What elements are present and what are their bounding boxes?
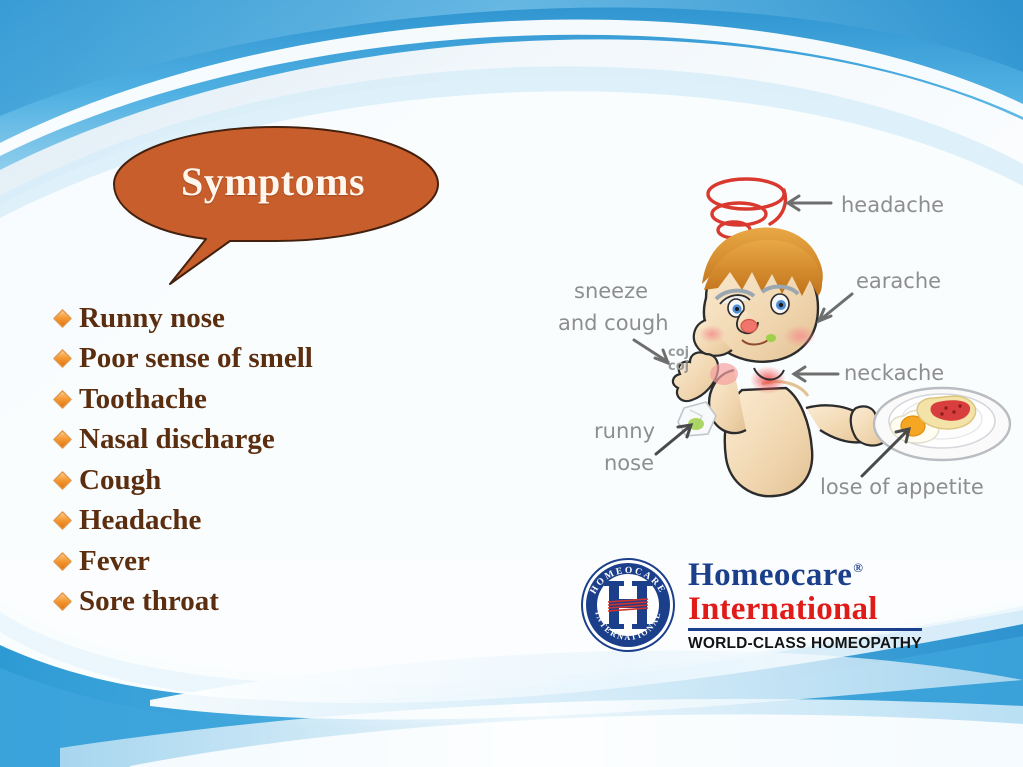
diamond-bullet-icon [53, 512, 71, 530]
sick-child-diagram-svg: headache [556, 158, 1023, 518]
arrow-neckache [794, 367, 838, 381]
registered-mark: ® [853, 561, 863, 574]
callout-runny-line1: runny [594, 419, 655, 443]
list-item: Headache [56, 501, 476, 542]
sick-child-illustration: headache [556, 158, 1023, 518]
symptom-label: Toothache [79, 385, 207, 414]
logo-tagline: WORLD-CLASS HOMEOPATHY [688, 636, 922, 652]
diamond-bullet-icon [53, 309, 71, 327]
diamond-bullet-icon [53, 471, 71, 489]
diamond-bullet-icon [53, 390, 71, 408]
homeocare-logo: HOMEOCARE INTERNATIONAL Homeocare ® Inte… [578, 553, 1008, 657]
mucus-drip [766, 334, 776, 342]
list-item: Sore throat [56, 582, 476, 623]
cough-sound-line1: coj [668, 345, 689, 360]
diamond-bullet-icon [53, 431, 71, 449]
food-plate-icon [874, 388, 1010, 460]
symptom-label: Poor sense of smell [79, 344, 313, 373]
list-item: Runny nose [56, 298, 476, 339]
list-item: Poor sense of smell [56, 339, 476, 380]
symptom-label: Fever [79, 547, 150, 576]
symptom-label: Sore throat [79, 587, 219, 616]
list-item: Toothache [56, 379, 476, 420]
arrow-earache [819, 294, 852, 321]
logo-line-homeocare: Homeocare ® [688, 559, 922, 592]
page-title: Symptoms [108, 158, 438, 205]
callout-neckache: neckache [844, 361, 944, 385]
symptom-label: Runny nose [79, 304, 225, 333]
presentation-slide: Symptoms Runny nose Poor sense of smell … [0, 0, 1023, 767]
speech-bubble-shape [108, 122, 448, 292]
arrow-sneeze [634, 340, 668, 363]
homeocare-emblem-icon: HOMEOCARE INTERNATIONAL [578, 555, 678, 655]
callout-sneeze-line2: and cough [558, 311, 669, 335]
diamond-bullet-icon [53, 552, 71, 570]
symptom-list: Runny nose Poor sense of smell Toothache… [56, 298, 476, 622]
callout-earache: earache [856, 269, 941, 293]
callout-headache: headache [841, 193, 944, 217]
title-speech-bubble: Symptoms [108, 122, 448, 292]
arrow-runny-nose [656, 425, 691, 454]
callout-lose-appetite: lose of appetite [820, 475, 984, 499]
diamond-bullet-icon [53, 350, 71, 368]
child-blush-right [784, 325, 816, 347]
logo-homeocare-text: Homeocare [688, 559, 852, 592]
list-item: Cough [56, 460, 476, 501]
callout-runny-line2: nose [604, 451, 654, 475]
hand-blush [710, 363, 738, 385]
cough-sound-line2: coj [668, 359, 689, 374]
arrow-headache [788, 196, 831, 210]
diamond-bullet-icon [53, 593, 71, 611]
list-item: Nasal discharge [56, 420, 476, 461]
callout-sneeze-line1: sneeze [574, 279, 648, 303]
symptom-label: Headache [79, 506, 201, 535]
logo-wordmark: Homeocare ® International WORLD-CLASS HO… [688, 559, 922, 652]
list-item: Fever [56, 541, 476, 582]
logo-line-international: International [688, 593, 922, 631]
symptom-label: Nasal discharge [79, 425, 275, 454]
symptom-label: Cough [79, 466, 161, 495]
child-blush-left [699, 325, 725, 343]
